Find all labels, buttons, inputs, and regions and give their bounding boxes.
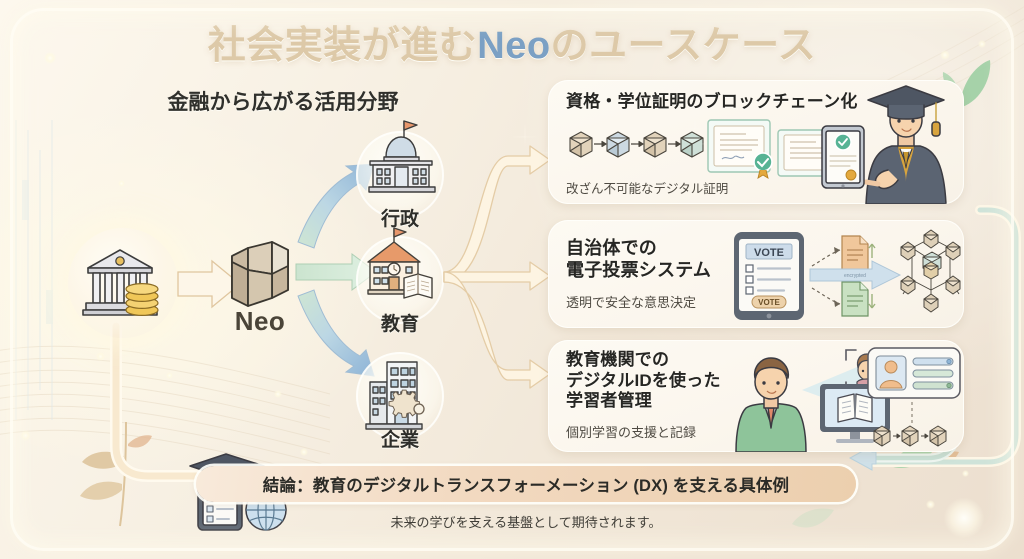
blockchain-network-icon: [898, 232, 964, 318]
usecase-card-3-title: 教育機関での デジタルIDを使った 学習者管理: [566, 350, 721, 412]
arrow-to-card-3: [444, 272, 550, 388]
usecase-card-1-subtitle: 改ざん不可能なデジタル証明: [566, 178, 728, 197]
sparkle-decoration: [118, 180, 125, 187]
vote-tablet-icon: VOTE VOTE: [732, 230, 810, 322]
usecase-card-2-subtitle: 透明で安全な意思決定: [566, 292, 696, 311]
usecase-card-2[interactable]: 自治体での 電子投票システム 透明で安全な意思決定 VOTE VOTE: [548, 220, 964, 328]
blockchain-cubes-icon: [568, 124, 698, 170]
usecase-card-2-title-line-2: 電子投票システム: [566, 260, 711, 282]
usecase-card-1-title: 資格・学位証明のブロックチェーン化: [566, 92, 866, 113]
usecase-card-3-title-line-3: 学習者管理: [566, 391, 721, 412]
digital-id-card-icon: [866, 346, 964, 402]
school-building-book-icon: [360, 222, 440, 308]
section-subheading: 金融から広がる活用分野: [118, 86, 448, 116]
usecase-card-2-title: 自治体での 電子投票システム: [566, 238, 711, 282]
conclusion-banner-text: 結論：教育のデジタルトランスフォーメーション (DX) を支える具体例: [196, 466, 856, 502]
graduate-with-tablet-icon: [848, 86, 964, 204]
sparkle-decoration: [926, 500, 935, 509]
infographic-canvas: 社会実装が進むNeoのユースケース 金融から広がる活用分野: [0, 0, 1024, 559]
usecase-card-3-subtitle: 個別学習の支援と記録: [566, 422, 696, 441]
blockchain-cubes-small-icon: [874, 422, 964, 452]
sparkle-decoration: [20, 430, 31, 441]
usecase-card-3-title-line-1: 教育機関での: [566, 350, 721, 371]
dashed-link-vertical: [908, 402, 918, 424]
branch-node-enterprise-label: 企業: [345, 425, 455, 452]
usecase-card-1[interactable]: 資格・学位証明のブロックチェーン化 改ざん不可能なデジタル証明: [548, 80, 964, 204]
background-stripes-left: [6, 120, 76, 420]
usecase-card-3[interactable]: 教育機関での デジタルIDを使った 学習者管理 個別学習の支援と記録: [548, 340, 964, 452]
usecase-card-3-title-line-2: デジタルIDを使った: [566, 371, 721, 392]
conclusion-banner: 結論：教育のデジタルトランスフォーメーション (DX) を支える具体例: [196, 466, 856, 502]
usecase-card-2-title-line-1: 自治体での: [566, 238, 711, 260]
page-title-pre: 社会実装が進む: [208, 25, 478, 67]
arrow-to-card-1: [444, 146, 550, 282]
page-title: 社会実装が進むNeoのユースケース: [0, 14, 1024, 69]
page-title-post: のユースケース: [551, 25, 817, 67]
conclusion-caption: 未来の学びを支える基盤として期待されます。: [196, 512, 856, 531]
card-connector-arrows: [444, 120, 554, 410]
government-building-icon: [364, 113, 438, 199]
page-title-accent: Neo: [477, 25, 550, 67]
svg-text:VOTE: VOTE: [758, 298, 780, 307]
neo-logo-icon: [226, 240, 294, 308]
bank-with-coins-icon: [82, 244, 166, 322]
sparkle-diamond-decoration: [936, 490, 993, 547]
process-arrow-icon: encrypted: [810, 260, 902, 290]
office-building-gear-icon: [362, 354, 440, 432]
branch-node-education-label: 教育: [345, 309, 455, 336]
svg-text:encrypted: encrypted: [844, 273, 866, 279]
svg-text:VOTE: VOTE: [754, 247, 784, 259]
